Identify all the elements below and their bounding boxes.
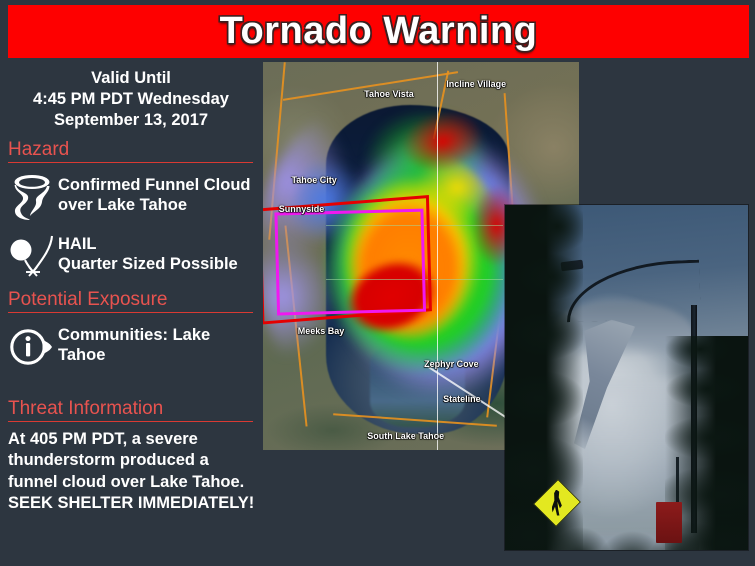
hail-size: Quarter Sized Possible [58, 255, 238, 275]
pedestrian-crossing-sign [534, 478, 580, 528]
roadside-sign [656, 502, 683, 543]
map-label-south-lake-tahoe: South Lake Tahoe [367, 431, 444, 441]
section-header-hazard: Hazard [8, 139, 253, 163]
valid-until-label: Valid Until [4, 68, 258, 89]
map-label-meeks-bay: Meeks Bay [298, 326, 345, 336]
tornado-icon [6, 172, 58, 222]
section-header-threat-information: Threat Information [8, 398, 253, 422]
page-title: Tornado Warning [220, 10, 538, 53]
map-label-stateline: Stateline [443, 394, 481, 404]
info-icon [6, 322, 58, 372]
valid-until-date: September 13, 2017 [4, 110, 258, 131]
hail-label: HAIL [58, 235, 238, 255]
valid-until-block: Valid Until 4:45 PM PDT Wednesday Septem… [0, 62, 262, 131]
map-label-tahoe-vista: Tahoe Vista [364, 89, 414, 99]
valid-until-time: 4:45 PM PDT Wednesday [4, 89, 258, 110]
threat-information-text: At 405 PM PDT, a severe thunderstorm pro… [8, 429, 256, 513]
tornado-warning-graphic: Tornado Warning Valid Until 4:45 PM PDT … [0, 0, 755, 566]
storm-tracking-box[interactable] [274, 208, 425, 315]
hazard-item-hail-text: HAIL Quarter Sized Possible [58, 231, 238, 275]
hazard-item-funnel-cloud: Confirmed Funnel Cloud over Lake Tahoe [0, 172, 262, 222]
warning-banner: Tornado Warning [8, 5, 749, 58]
exposure-item-communities: Communities: Lake Tahoe [0, 322, 262, 372]
radar-range-line [437, 62, 438, 450]
section-header-hazard-label: Hazard [8, 139, 69, 160]
map-label-incline-village: Incline Village [446, 79, 506, 89]
section-header-threat-information-label: Threat Information [8, 398, 163, 419]
funnel-cloud-photo[interactable] [505, 205, 748, 550]
hazard-item-hail: HAIL Quarter Sized Possible [0, 231, 262, 281]
map-label-sunnyside: Sunnyside [279, 204, 325, 214]
warning-details-sidebar: Valid Until 4:45 PM PDT Wednesday Septem… [0, 62, 262, 566]
hail-icon [6, 231, 58, 281]
section-header-potential-exposure-label: Potential Exposure [8, 289, 168, 310]
hazard-item-funnel-cloud-text: Confirmed Funnel Cloud over Lake Tahoe [58, 172, 254, 216]
section-header-potential-exposure: Potential Exposure [8, 289, 253, 313]
map-label-zephyr-cove: Zephyr Cove [424, 359, 479, 369]
map-label-tahoe-city: Tahoe City [291, 175, 336, 185]
exposure-item-communities-text: Communities: Lake Tahoe [58, 322, 254, 366]
